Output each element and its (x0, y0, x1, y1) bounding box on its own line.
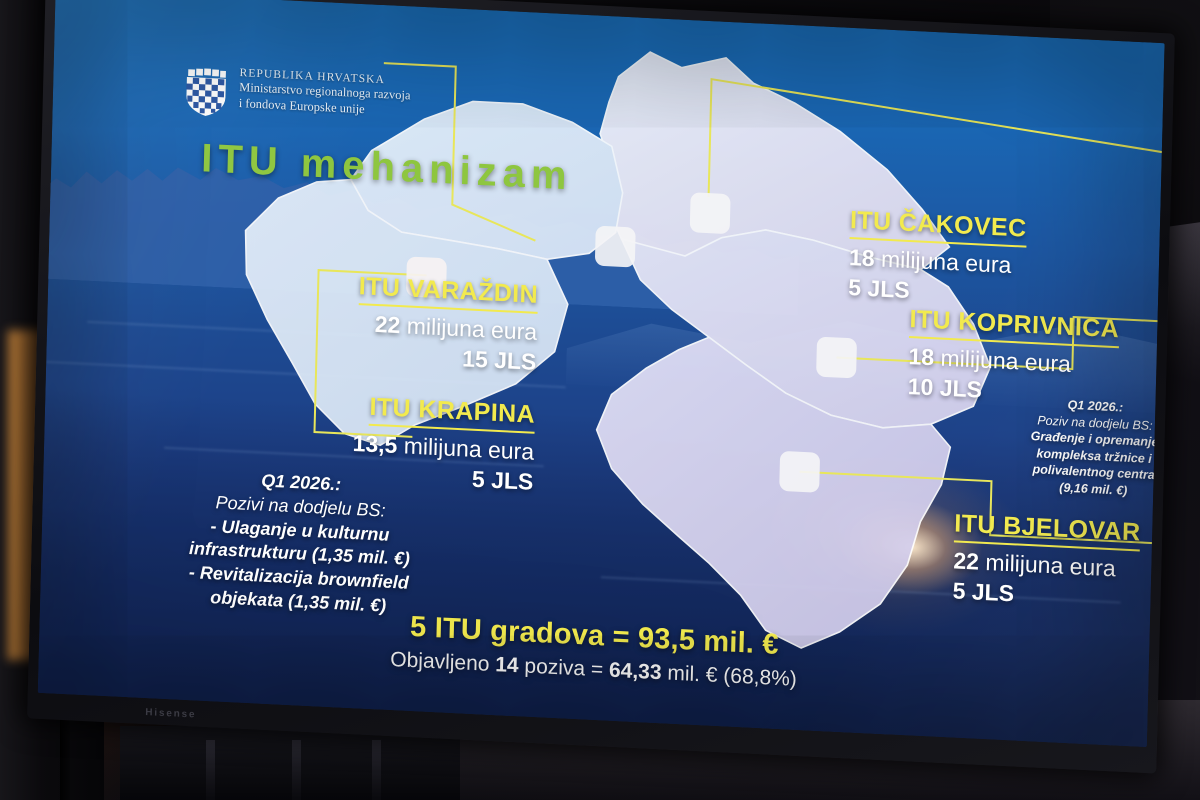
summary-pre: Objavljeno (390, 648, 496, 676)
callout-varazdin-amount-value: 22 (375, 311, 401, 338)
connector-cakovec (709, 79, 1165, 220)
tv-brand-logo: Hisense (145, 707, 196, 720)
callout-krapina-amount-unit: milijuna eura (403, 432, 534, 464)
callout-varazdin: ITU VARAŽDIN 22 milijuna eura 15 JLS (246, 267, 538, 376)
presentation-slide: REPUBLIKA HRVATSKA Ministarstvo regional… (38, 0, 1165, 747)
callout-cakovec-title: ITU ČAKOVEC (850, 206, 1027, 248)
callout-bjelovar-amount-value: 22 (953, 547, 979, 574)
callout-krapina-title: ITU KRAPINA (369, 393, 535, 434)
summary-count: 14 (495, 653, 519, 677)
tv-stand-leg (292, 740, 301, 800)
callout-cakovec-amount-unit: milijuna eura (881, 246, 1012, 278)
ministry-logo-block: REPUBLIKA HRVATSKA Ministarstvo regional… (182, 63, 411, 128)
detail-krapina: Q1 2026.: Pozivi na dodjelu BS: - Ulagan… (148, 464, 451, 621)
callout-cakovec: ITU ČAKOVEC 18 milijuna eura 5 JLS (848, 206, 1150, 316)
tv-bezel: REPUBLIKA HRVATSKA Ministarstvo regional… (27, 0, 1175, 773)
callout-krapina-amount-value: 13,5 (352, 430, 397, 458)
callout-bjelovar-amount-unit: milijuna eura (985, 549, 1116, 581)
callout-koprivnica-amount-unit: milijuna eura (940, 345, 1071, 377)
callout-varazdin-amount-unit: milijuna eura (406, 312, 537, 344)
summary-mid: poziva = (518, 654, 609, 681)
television-display: REPUBLIKA HRVATSKA Ministarstvo regional… (27, 0, 1175, 773)
room-environment: REPUBLIKA HRVATSKA Ministarstvo regional… (0, 0, 1200, 800)
callout-koprivnica-amount-value: 18 (908, 343, 934, 370)
tv-stand-leg (372, 740, 381, 800)
summary-amount: 64,33 (609, 659, 662, 685)
callout-cakovec-amount-value: 18 (849, 244, 875, 271)
callout-bjelovar: ITU BJELOVAR 22 milijuna eura 5 JLS (952, 509, 1164, 615)
detail-koprivnica: Q1 2026.: Poziv na dodjelu BS: Građenje … (1005, 394, 1164, 502)
ministry-text: REPUBLIKA HRVATSKA Ministarstvo regional… (239, 66, 411, 120)
tv-stand-leg (206, 740, 215, 800)
tv-stand (120, 726, 460, 800)
croatian-coat-of-arms-icon (182, 63, 229, 119)
marker-cakovec (690, 192, 731, 234)
